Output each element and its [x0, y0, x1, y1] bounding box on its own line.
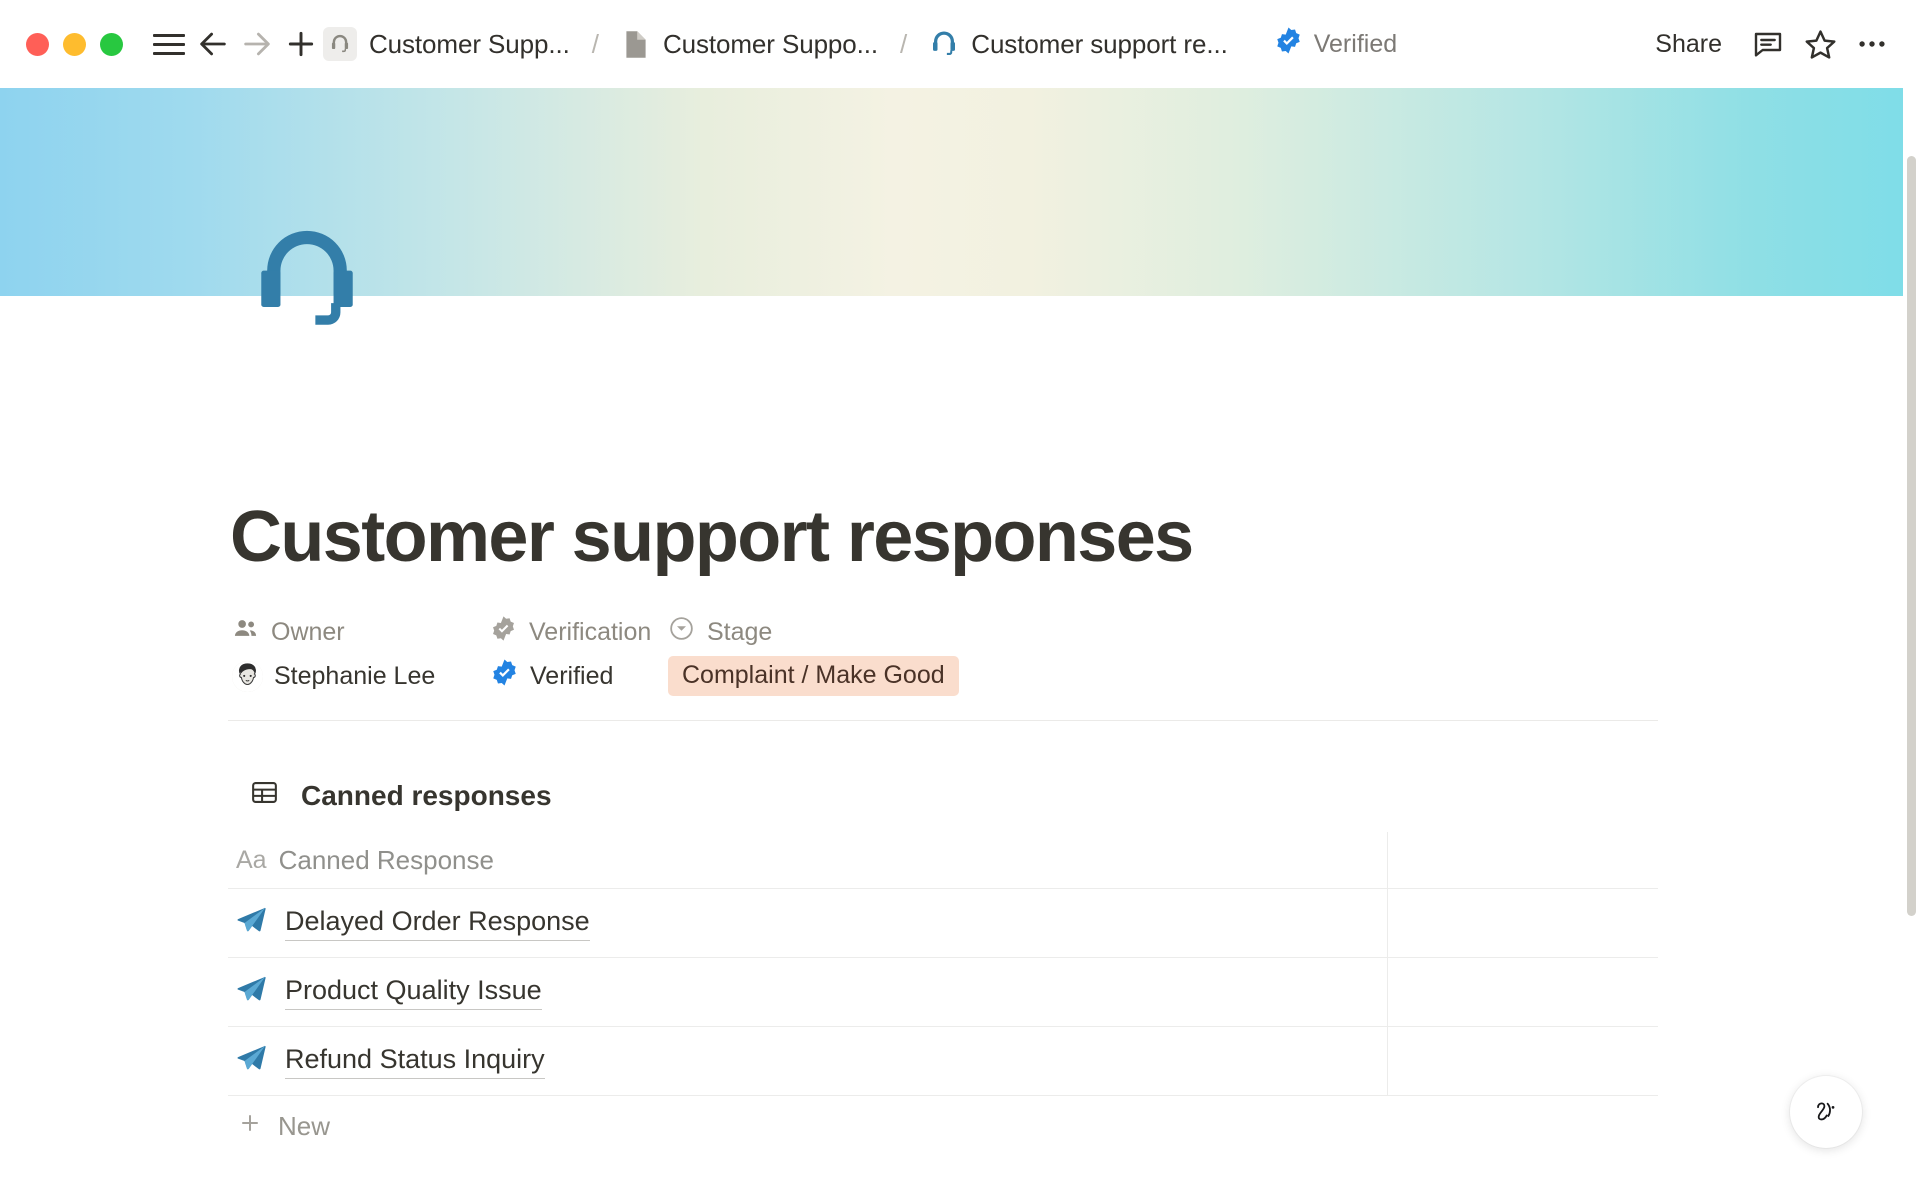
table-row[interactable]: Delayed Order Response: [228, 889, 1658, 958]
new-row-button[interactable]: New: [228, 1096, 1658, 1156]
scrollbar-thumb[interactable]: [1907, 156, 1916, 916]
table-cell-name[interactable]: Refund Status Inquiry: [228, 1027, 1388, 1095]
table-cell-empty[interactable]: [1388, 889, 1658, 957]
verified-status-chip[interactable]: Verified: [1274, 26, 1397, 62]
arrow-right-icon[interactable]: [235, 22, 279, 66]
page-properties: Owner Verification: [232, 612, 988, 696]
paper-plane-icon: [236, 974, 267, 1010]
property-verification-label: Verification: [529, 618, 651, 647]
table-cell-empty[interactable]: [1388, 958, 1658, 1026]
minimize-window-button[interactable]: [63, 33, 86, 56]
headset-icon: [929, 27, 959, 61]
property-verification-value-label: Verified: [530, 662, 613, 691]
property-owner-name: Stephanie Lee: [274, 662, 435, 691]
breadcrumb-label-1: Customer Suppo...: [663, 29, 878, 60]
page-title[interactable]: Customer support responses: [230, 501, 1193, 573]
select-chevron-icon: [668, 615, 695, 649]
notion-ai-button[interactable]: [1790, 1076, 1862, 1148]
property-verification-value[interactable]: Verified: [490, 658, 668, 694]
breadcrumb-item-0[interactable]: Customer Supp...: [323, 27, 570, 61]
row-title-link[interactable]: Product Quality Issue: [285, 974, 542, 1010]
property-value-row: Stephanie Lee Verified Complaint / Make …: [232, 656, 988, 696]
table-cell-name[interactable]: Product Quality Issue: [228, 958, 1388, 1026]
property-stage-value[interactable]: Complaint / Make Good: [668, 656, 988, 697]
column-header-label: Canned Response: [279, 845, 494, 876]
headset-icon: [323, 27, 357, 61]
verified-badge-icon: [490, 658, 519, 694]
status-badge: Complaint / Make Good: [668, 656, 959, 697]
document-icon: [621, 27, 651, 61]
row-title-link[interactable]: Refund Status Inquiry: [285, 1043, 545, 1079]
property-header-row: Owner Verification: [232, 612, 988, 652]
database-title[interactable]: Canned responses: [250, 778, 552, 814]
verified-badge-icon: [1274, 26, 1303, 62]
paper-plane-icon: [236, 1043, 267, 1079]
table-cell-name[interactable]: Delayed Order Response: [228, 889, 1388, 957]
zoom-window-button[interactable]: [100, 33, 123, 56]
vertical-scrollbar[interactable]: [1903, 88, 1920, 1200]
avatar: [232, 661, 263, 692]
close-window-button[interactable]: [26, 33, 49, 56]
table-header-cell-empty[interactable]: [1388, 832, 1658, 888]
window-toolbar: Customer Supp... / Customer Suppo... /: [0, 0, 1920, 88]
table-icon: [250, 778, 279, 814]
table-cell-empty[interactable]: [1388, 1027, 1658, 1095]
table-header-row: Aa Canned Response: [228, 832, 1658, 889]
paper-plane-icon: [236, 905, 267, 941]
breadcrumb: Customer Supp... / Customer Suppo... /: [323, 26, 1397, 62]
row-title-link[interactable]: Delayed Order Response: [285, 905, 590, 941]
ellipsis-icon[interactable]: [1850, 22, 1894, 66]
property-stage-header[interactable]: Stage: [668, 615, 988, 649]
property-owner-label: Owner: [271, 618, 345, 647]
plus-icon: [238, 1111, 262, 1142]
breadcrumb-label-2: Customer support re...: [971, 29, 1227, 60]
property-verification-header[interactable]: Verification: [490, 615, 668, 649]
breadcrumb-item-1[interactable]: Customer Suppo...: [621, 27, 878, 61]
breadcrumb-separator-0: /: [592, 29, 599, 60]
people-icon: [232, 615, 259, 649]
share-button[interactable]: Share: [1639, 22, 1738, 67]
table-row[interactable]: Product Quality Issue: [228, 958, 1658, 1027]
section-divider: [228, 720, 1658, 721]
arrow-left-icon[interactable]: [191, 22, 235, 66]
text-type-icon: Aa: [236, 846, 267, 875]
breadcrumb-item-2[interactable]: Customer support re...: [929, 27, 1227, 61]
verified-label: Verified: [1314, 30, 1397, 59]
new-row-label: New: [278, 1111, 330, 1142]
hamburger-menu-icon[interactable]: [147, 22, 191, 66]
property-owner-value[interactable]: Stephanie Lee: [232, 661, 490, 692]
star-icon[interactable]: [1798, 22, 1842, 66]
property-stage-label: Stage: [707, 618, 772, 647]
page-icon-headset[interactable]: [248, 220, 366, 338]
toolbar-actions: Share: [1639, 22, 1894, 67]
database-title-label: Canned responses: [301, 780, 552, 812]
window-traffic-lights: [26, 33, 123, 56]
comment-icon[interactable]: [1746, 22, 1790, 66]
breadcrumb-separator-1: /: [900, 29, 907, 60]
verified-outline-icon: [490, 615, 517, 649]
table-row[interactable]: Refund Status Inquiry: [228, 1027, 1658, 1096]
database-table: Aa Canned Response Delayed Order Respons…: [228, 832, 1658, 1156]
breadcrumb-label-0: Customer Supp...: [369, 29, 570, 60]
property-owner-header[interactable]: Owner: [232, 615, 490, 649]
plus-icon[interactable]: [279, 22, 323, 66]
table-header-cell-name[interactable]: Aa Canned Response: [228, 832, 1388, 888]
